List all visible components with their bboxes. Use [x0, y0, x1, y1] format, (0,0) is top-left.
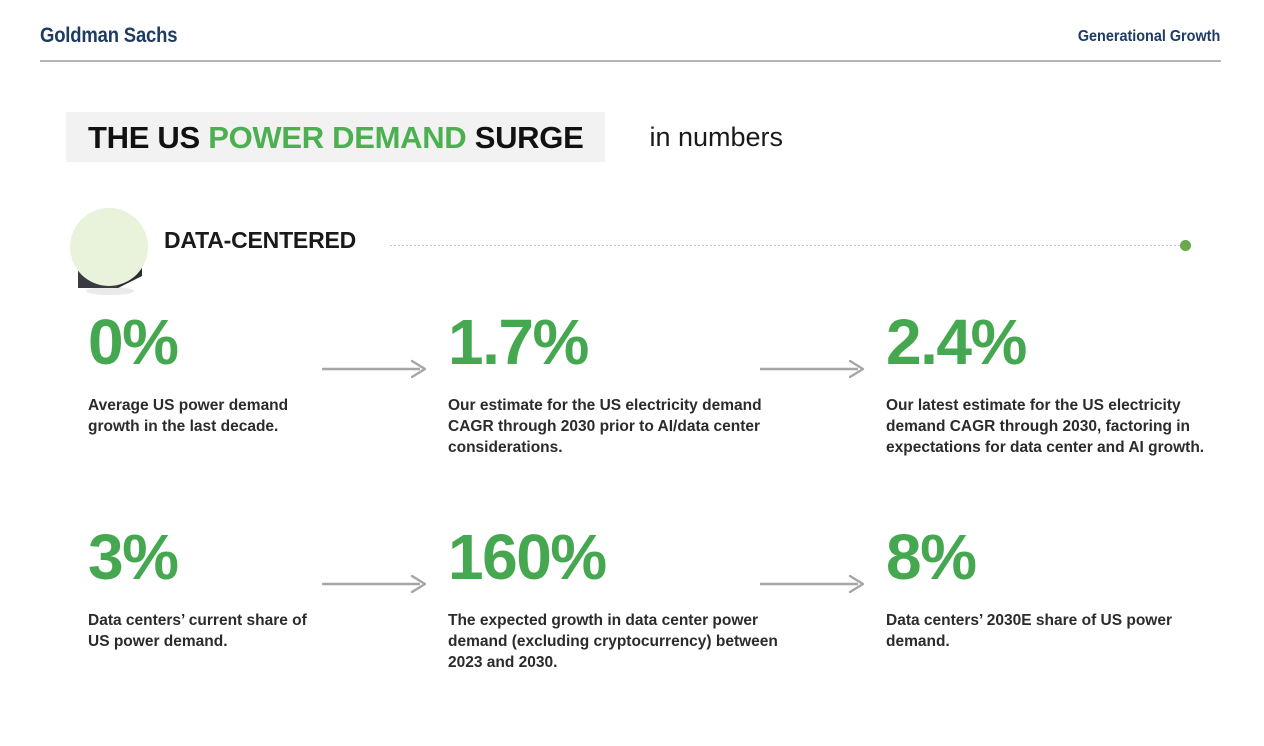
- stat-card: 0% Average US power demand growth in the…: [88, 310, 318, 438]
- arrow-right-icon: [322, 358, 432, 380]
- stat-description: Data centers’ 2030E share of US power de…: [886, 611, 1206, 653]
- stat-card: 1.7% Our estimate for the US electricity…: [448, 310, 778, 458]
- title-suffix: in numbers: [649, 124, 783, 151]
- title-part-the-us: THE US: [88, 120, 208, 155]
- header-divider: [40, 60, 1221, 62]
- infographic-title: THE US POWER DEMAND SURGE in numbers: [66, 112, 783, 162]
- stat-value: 2.4%: [886, 310, 1206, 382]
- stat-value: 3%: [88, 525, 318, 597]
- stat-card: 2.4% Our latest estimate for the US elec…: [886, 310, 1206, 458]
- stat-card: 8% Data centers’ 2030E share of US power…: [886, 525, 1206, 653]
- stat-value: 0%: [88, 310, 318, 382]
- brand-logo-text: Goldman Sachs: [40, 24, 177, 48]
- arrow-right-icon: [760, 358, 870, 380]
- arrow-right-icon: [322, 573, 432, 595]
- page-header: Goldman Sachs Generational Growth: [0, 0, 1264, 66]
- category-title: DATA-CENTERED: [164, 227, 356, 254]
- stat-row-2: 3% Data centers’ current share of US pow…: [0, 525, 1264, 740]
- stat-description: Our estimate for the US electricity dema…: [448, 396, 778, 458]
- stats-grid: 0% Average US power demand growth in the…: [0, 310, 1264, 740]
- stat-description: Average US power demand growth in the la…: [88, 396, 318, 438]
- stat-value: 160%: [448, 525, 778, 597]
- title-part-surge: SURGE: [466, 120, 583, 155]
- stat-card: 160% The expected growth in data center …: [448, 525, 778, 673]
- stat-value: 8%: [886, 525, 1206, 597]
- category-row: DATA-CENTERED: [62, 198, 1202, 298]
- arrow-right-icon: [760, 573, 870, 595]
- stat-description: Our latest estimate for the US electrici…: [886, 396, 1206, 458]
- title-text: THE US POWER DEMAND SURGE: [88, 122, 583, 153]
- server-rack-icon: [62, 198, 158, 298]
- section-label: Generational Growth: [1078, 28, 1220, 46]
- stat-value: 1.7%: [448, 310, 778, 382]
- category-endpoint-dot: [1180, 240, 1191, 251]
- stat-row-1: 0% Average US power demand growth in the…: [0, 310, 1264, 525]
- category-dotted-connector: [390, 244, 1180, 246]
- title-part-power-demand: POWER DEMAND: [208, 120, 466, 155]
- stat-description: Data centers’ current share of US power …: [88, 611, 318, 653]
- icon-backdrop-circle: [70, 208, 148, 286]
- title-banner: THE US POWER DEMAND SURGE: [66, 112, 605, 162]
- stat-description: The expected growth in data center power…: [448, 611, 778, 673]
- stat-card: 3% Data centers’ current share of US pow…: [88, 525, 318, 653]
